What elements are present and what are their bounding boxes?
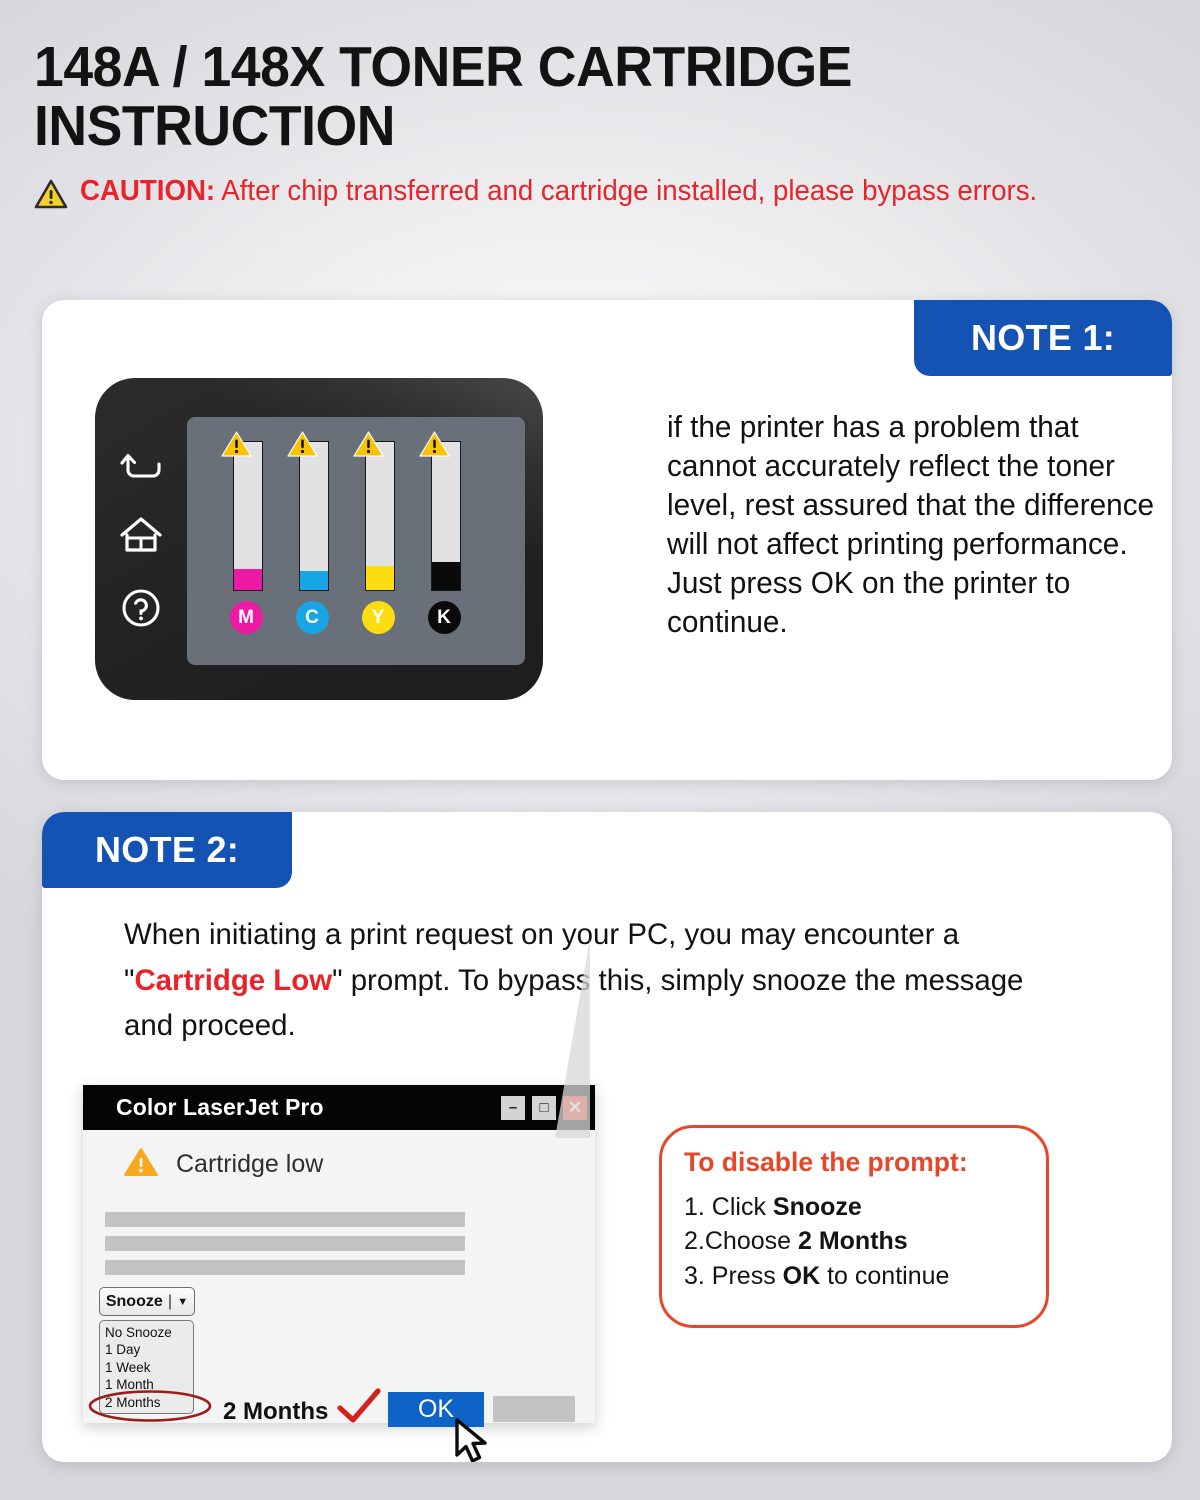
home-icon[interactable]	[118, 514, 164, 561]
warning-triangle-icon	[352, 430, 385, 464]
cartridge-low-alert: Cartridge low	[123, 1146, 323, 1183]
close-button[interactable]: ✕	[563, 1096, 587, 1120]
page-title: 148A / 148X TONER CARTRIDGE INSTRUCTION	[34, 38, 1098, 155]
placeholder-bar	[105, 1212, 465, 1227]
callout-step-pre: Choose	[705, 1227, 798, 1255]
printer-control-panel: M	[95, 378, 543, 700]
disable-prompt-callout: To disable the prompt: 1. Click Snooze 2…	[659, 1125, 1049, 1328]
snooze-dropdown-button[interactable]: Snooze | ▼	[99, 1287, 195, 1316]
toner-gauge: M	[223, 433, 269, 655]
toner-fill	[432, 562, 460, 590]
help-icon[interactable]	[120, 587, 162, 634]
toner-fill	[300, 571, 328, 590]
caution-body: After chip transferred and cartridge ins…	[215, 175, 1037, 207]
warning-triangle-icon	[123, 1146, 159, 1183]
placeholder-bar	[105, 1260, 465, 1275]
warning-triangle-icon	[220, 430, 253, 464]
toner-fill	[234, 569, 262, 590]
secondary-button-placeholder[interactable]	[493, 1396, 575, 1422]
printer-alert-dialog: Color LaserJet Pro – □ ✕ Cartridge low	[83, 1085, 595, 1423]
callout-step: 3. Press OK to continue	[684, 1259, 1046, 1293]
cartridge-low-label: Cartridge low	[176, 1150, 323, 1179]
minimize-button[interactable]: –	[501, 1096, 525, 1120]
page-header: 148A / 148X TONER CARTRIDGE INSTRUCTION …	[0, 0, 1200, 215]
caution-text: CAUTION: After chip transferred and cart…	[80, 175, 1037, 207]
note2-body-text: When initiating a print request on your …	[124, 912, 1035, 1049]
callout-step-pre: Press	[712, 1262, 783, 1290]
dialog-body: Cartridge low Snooze | ▼ No Snooze 1 Day…	[83, 1130, 595, 1423]
cartridge-low-highlight: Cartridge Low	[134, 964, 332, 997]
callout-step-pre: Click	[712, 1193, 773, 1221]
dialog-placeholder-text	[105, 1212, 465, 1284]
warning-triangle-icon	[418, 430, 451, 464]
toner-label-dot: M	[230, 601, 263, 634]
callout-step-num: 2.	[684, 1227, 705, 1255]
snooze-dropdown-label: Snooze	[106, 1293, 163, 1311]
note1-card: NOTE 1:	[42, 300, 1172, 780]
snooze-option[interactable]: 1 Week	[100, 1359, 193, 1376]
printer-key-column	[95, 378, 187, 700]
callout-step-num: 3.	[684, 1262, 712, 1290]
toner-fill	[366, 566, 394, 590]
toner-gauge: K	[421, 433, 467, 655]
toner-gauge: Y	[355, 433, 401, 655]
mouse-cursor-icon	[453, 1418, 495, 1462]
window-controls: – □ ✕	[501, 1096, 587, 1120]
toner-label-dot: Y	[362, 601, 395, 634]
note1-badge: NOTE 1:	[914, 300, 1172, 376]
callout-step-strong: 2 Months	[798, 1227, 908, 1255]
checkmark-icon	[335, 1387, 383, 1432]
snooze-option[interactable]: 1 Day	[100, 1341, 193, 1358]
note1-body-text: if the printer has a problem that cannot…	[667, 408, 1155, 642]
note2-card: NOTE 2: When initiating a print request …	[42, 812, 1172, 1462]
toner-gauge-row: M	[223, 433, 505, 655]
toner-gauge: C	[289, 433, 335, 655]
maximize-button[interactable]: □	[532, 1096, 556, 1120]
chevron-down-icon: ▼	[177, 1296, 188, 1308]
warning-triangle-icon	[286, 430, 319, 464]
snooze-option[interactable]: No Snooze	[100, 1324, 193, 1341]
callout-step-num: 1.	[684, 1193, 712, 1221]
callout-title: To disable the prompt:	[684, 1147, 1046, 1178]
callout-step-post: to continue	[820, 1262, 949, 1290]
callout-step: 2.Choose 2 Months	[684, 1224, 1046, 1258]
warning-triangle-icon	[34, 179, 68, 215]
toner-label-dot: K	[428, 601, 461, 634]
callout-step-strong: OK	[783, 1262, 821, 1290]
selection-highlight-ellipse	[87, 1389, 213, 1428]
note2-badge: NOTE 2:	[42, 812, 292, 888]
back-icon[interactable]	[119, 450, 163, 487]
callout-step: 1. Click Snooze	[684, 1190, 1046, 1224]
dialog-title-bar: Color LaserJet Pro – □ ✕	[83, 1085, 595, 1130]
placeholder-bar	[105, 1236, 465, 1251]
toner-label-dot: C	[296, 601, 329, 634]
dialog-title-label: Color LaserJet Pro	[116, 1094, 501, 1121]
callout-step-strong: Snooze	[773, 1193, 862, 1221]
selected-value-label: 2 Months	[223, 1398, 328, 1426]
caution-banner: CAUTION: After chip transferred and cart…	[34, 175, 1166, 215]
caution-label: CAUTION:	[80, 175, 215, 207]
printer-screen: M	[187, 417, 525, 665]
